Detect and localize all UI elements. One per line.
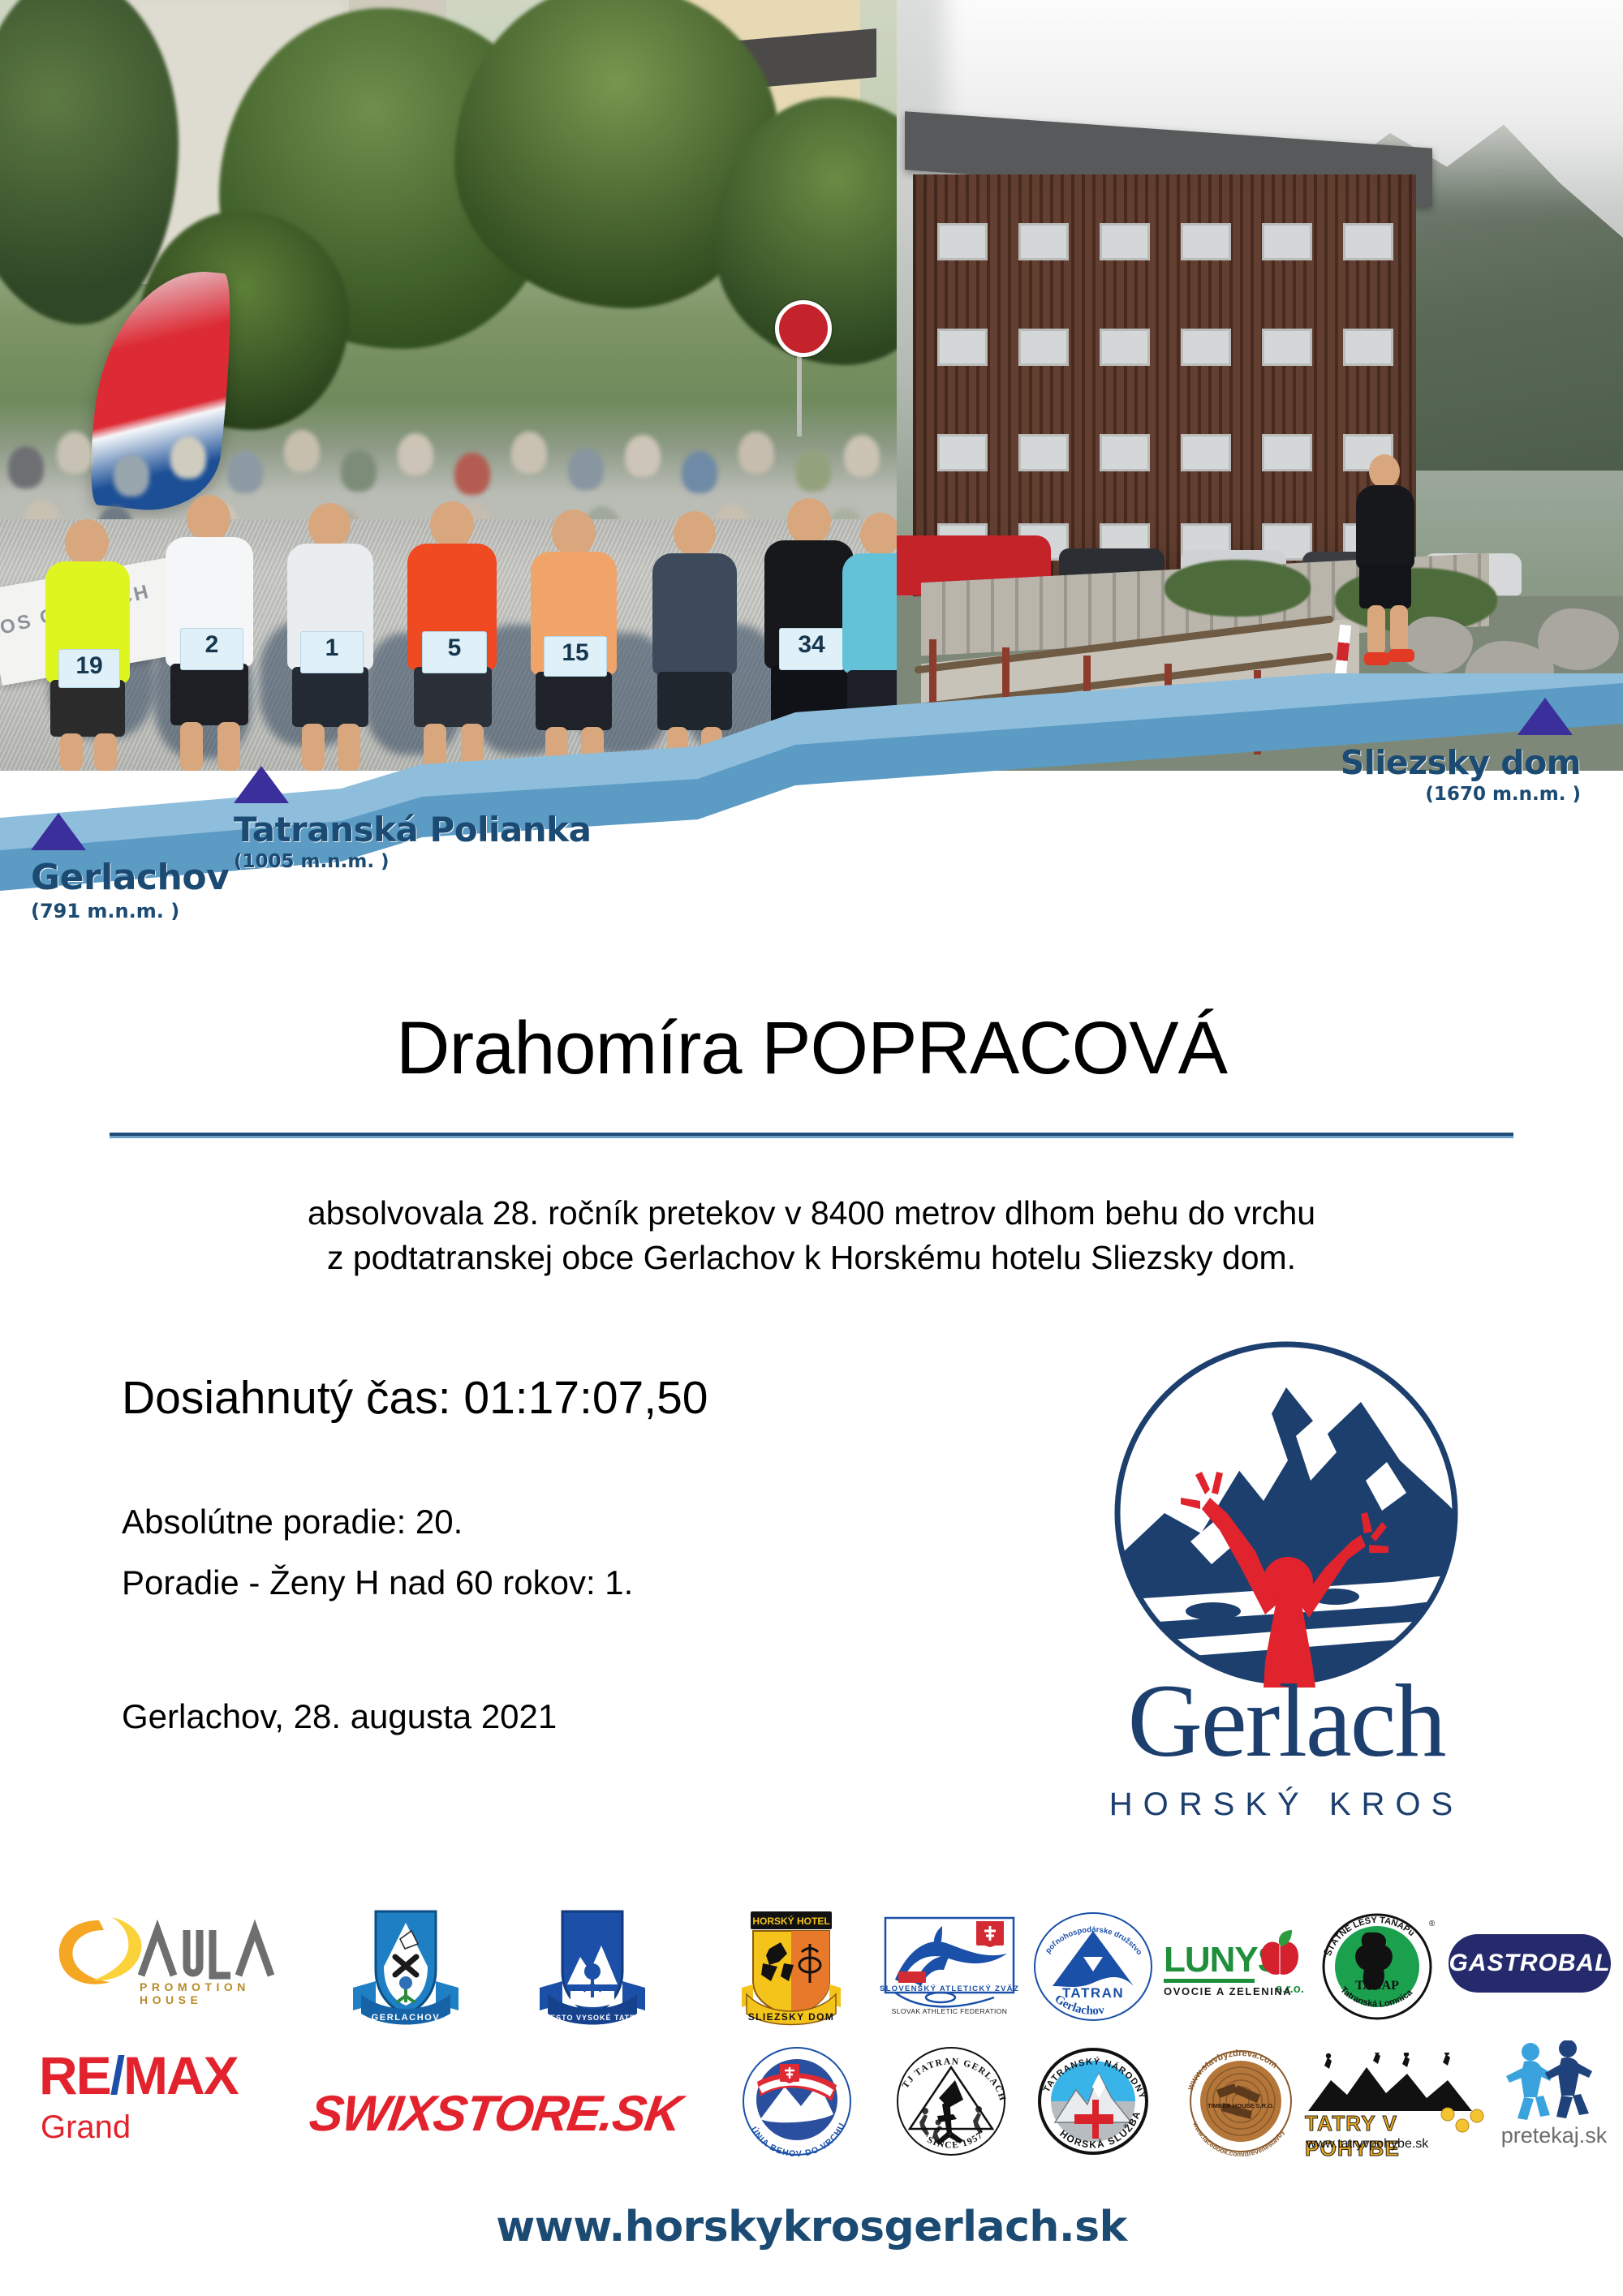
- running-figures-icon: [1500, 2040, 1605, 2125]
- elevation-point-altitude: (1005 m.n.m. ): [234, 851, 591, 872]
- horska-sluzba-icon: TATRANSKÝ NÁRODNÝ PARK HORSKÁ SLUŽBA: [1031, 2044, 1156, 2162]
- slovak-athletic-federation-icon: SLOVENSKÝ ATLETICKÝ ZVÄZ SLOVAK ATHLETIC…: [872, 1908, 1027, 2030]
- header-photo-band: OS GERLACH 19 2 1: [0, 0, 1623, 771]
- stop-sign: [775, 300, 832, 357]
- tatran-gerlachov-icon: TATRAN poľnohospodárske družstvo Gerlach…: [1027, 1908, 1160, 2030]
- svg-text:®: ®: [1429, 1920, 1436, 1928]
- sponsor-statne-lesy-tanapu: TANAP ŠTÁTNE LESY TANAPu Tatranská Lomni…: [1319, 1908, 1440, 2030]
- sponsor-tj-tatran-gerlachov: TJ TATRAN GERLACHOV 'SINCE 1957': [889, 2044, 1014, 2162]
- hotel-building: [913, 174, 1416, 596]
- sponsor-name: TATRAN: [1062, 1985, 1124, 2001]
- race-description-line1: absolvovala 28. ročník pretekov v 8400 m…: [0, 1191, 1623, 1236]
- sponsor-tagline: www.tatryvpohybe.sk: [1307, 2137, 1428, 2152]
- stavbyzdreva-icon: TIMBER HOUSE S.R.O. www.stavbyzdreva.com…: [1181, 2044, 1302, 2162]
- triangle-marker-icon: [31, 813, 86, 850]
- race-description-line2: z podtatranskej obce Gerlachov k Horském…: [0, 1236, 1623, 1280]
- elevation-marker-gerlachov: Gerlachov (791 m.n.m. ): [31, 813, 229, 922]
- unia-behov-icon: ÚNIA BEHOV DO VRCHU: [734, 2044, 860, 2162]
- crest-label-top: HORSKÝ HOTEL: [752, 1915, 829, 1927]
- place-and-date: Gerlachov, 28. augusta 2021: [122, 1697, 557, 1736]
- achieved-time: Dosiahnutý čas: 01:17:07,50: [122, 1371, 708, 1425]
- sponsor-tagline: Grand: [41, 2109, 131, 2146]
- sponsor-mesto-vysoke-tatry-crest: MESTO VYSOKÉ TATRY: [523, 1907, 661, 2028]
- gerlachov-coat-of-arms-icon: GERLACHOV: [337, 1907, 475, 2028]
- sponsor-sliezsky-dom: HORSKÝ HOTEL SLIEZSKY DOM: [730, 1907, 852, 2028]
- absolute-rank: Absolútne poradie: 20.: [122, 1503, 463, 1541]
- footer-website-url: www.horskykrosgerlach.sk: [0, 2203, 1623, 2251]
- elevation-point-altitude: (791 m.n.m. ): [31, 900, 229, 922]
- sponsor-pd-tatran-gerlachov: TATRAN poľnohospodárske družstvo Gerlach…: [1027, 1908, 1160, 2030]
- race-description: absolvovala 28. ročník pretekov v 8400 m…: [0, 1191, 1623, 1280]
- elevation-point-name: Gerlachov: [31, 857, 229, 898]
- sponsor-tatry-v-pohybe: TATRY V POHYBE www.tatryvpohybe.sk: [1305, 2053, 1492, 2158]
- sponsor-name: SWIXSTORE.SK: [306, 2085, 684, 2143]
- crest-label-bottom: SLIEZSKY DOM: [748, 2011, 835, 2023]
- apple-icon: [1255, 1928, 1305, 1980]
- sponsor-slovensky-atleticky-zvaz: SLOVENSKÝ ATLETICKÝ ZVÄZ SLOVAK ATHLETIC…: [872, 1908, 1027, 2030]
- photo-race-start: OS GERLACH 19 2 1: [0, 0, 897, 771]
- elevation-marker-tatranska-polianka: Tatranská Polianka (1005 m.n.m. ): [234, 766, 591, 872]
- sponsor-logo-grid: PROMOTION HOUSE GERLACHOV: [0, 1915, 1623, 2191]
- sliezsky-dom-crest-icon: HORSKÝ HOTEL SLIEZSKY DOM: [730, 1907, 852, 2028]
- crest-label: MESTO VYSOKÉ TATRY: [544, 2014, 642, 2022]
- sponsor-stavbyzdreva: TIMBER HOUSE S.R.O. www.stavbyzdreva.com…: [1181, 2044, 1302, 2162]
- logo-runner-figure-icon: [1043, 1339, 1530, 1688]
- sponsor-remax-grand: RE/MAX Grand: [39, 2044, 274, 2158]
- sponsor-pretekaj: pretekaj.sk: [1493, 2040, 1615, 2162]
- svg-text:TIMBER HOUSE S.R.O.: TIMBER HOUSE S.R.O.: [1208, 2102, 1274, 2109]
- vysoke-tatry-coat-of-arms-icon: MESTO VYSOKÉ TATRY: [523, 1907, 661, 2028]
- photo-sliezsky-dom: [897, 0, 1623, 771]
- elevation-point-name: Tatranská Polianka: [234, 810, 591, 849]
- crest-label: GERLACHOV: [372, 2013, 441, 2023]
- tj-tatran-gerlachov-icon: TJ TATRAN GERLACHOV 'SINCE 1957': [889, 2044, 1014, 2162]
- elevation-profile: Gerlachov (791 m.n.m. ) Tatranská Polian…: [0, 673, 1623, 965]
- elevation-point-altitude: (1670 m.n.m. ): [1425, 784, 1581, 805]
- sponsor-tagline: OVOCIE A ZELENINA: [1164, 1985, 1292, 1997]
- sponsor-name: SLOVENSKÝ ATLETICKÝ ZVÄZ: [880, 1984, 1019, 1993]
- sponsor-horska-sluzba: TATRANSKÝ NÁRODNÝ PARK HORSKÁ SLUŽBA: [1031, 2044, 1156, 2162]
- gerlach-horsky-kros-logo: Gerlach HORSKÝ KROS: [1043, 1339, 1530, 1825]
- elevation-point-name: Sliezsky dom: [1341, 743, 1581, 782]
- sponsor-name: pretekaj.sk: [1493, 2123, 1615, 2148]
- sponsor-gastrobal: GASTROBAL: [1449, 1931, 1611, 1996]
- sponsor-tagline: PROMOTION HOUSE: [140, 1980, 276, 2006]
- sponsor-swixstore: SWIXSTORE.SK: [312, 2077, 678, 2150]
- sponsor-ajla: PROMOTION HOUSE: [49, 1911, 276, 2008]
- sponsor-name: GASTROBAL: [1449, 1950, 1611, 1977]
- category-rank: Poradie - Ženy H nad 60 rokov: 1.: [122, 1563, 633, 1602]
- logo-wordmark: Gerlach: [1043, 1662, 1530, 1781]
- sponsor-gerlachov-crest: GERLACHOV: [337, 1907, 475, 2028]
- tanap-forest-icon: TANAP ŠTÁTNE LESY TANAPu Tatranská Lomni…: [1319, 1908, 1440, 2030]
- sponsor-lunys: LUNYS s.r.o. OVOCIE A ZELENINA: [1160, 1919, 1311, 2016]
- sponsor-tagline: SLOVAK ATHLETIC FEDERATION: [892, 2007, 1008, 2015]
- sponsor-unia-behov-do-vrchu: ÚNIA BEHOV DO VRCHU: [734, 2044, 860, 2162]
- edelweiss-icon: [1433, 2103, 1490, 2140]
- athlete-name: Drahomíra POPRACOVÁ: [0, 1006, 1623, 1091]
- triangle-marker-icon: [1518, 698, 1573, 735]
- triangle-marker-icon: [234, 766, 289, 803]
- svg-text:TANAP: TANAP: [1355, 1979, 1399, 1993]
- divider-rule: [110, 1133, 1513, 1138]
- elevation-marker-sliezsky-dom: Sliezsky dom (1670 m.n.m. ): [1509, 698, 1573, 742]
- ajla-letters-icon: [136, 1919, 274, 1980]
- logo-subtitle: HORSKÝ KROS: [1043, 1786, 1530, 1823]
